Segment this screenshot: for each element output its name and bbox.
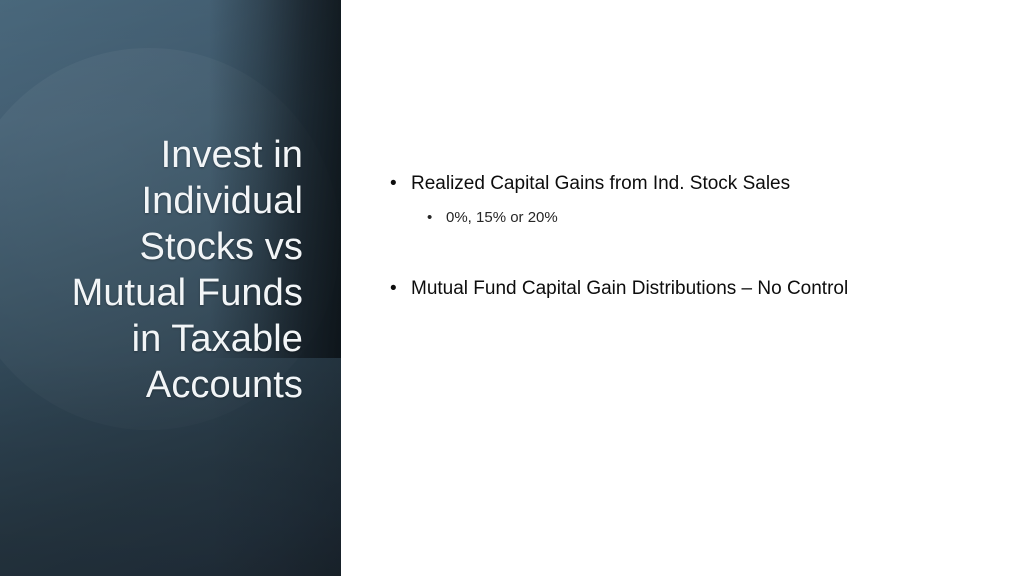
title-panel: Invest in Individual Stocks vs Mutual Fu… [0, 0, 341, 576]
bullet-text: Mutual Fund Capital Gain Distributions –… [411, 275, 848, 303]
sub-bullet-text: 0%, 15% or 20% [446, 206, 558, 230]
bullet-spacer [390, 236, 990, 275]
sub-bullet-marker-icon: • [427, 206, 446, 230]
bullet-text: Realized Capital Gains from Ind. Stock S… [411, 170, 790, 198]
bullet-item-1: • Realized Capital Gains from Ind. Stock… [390, 170, 990, 198]
bullet-item-2: • 0%, 15% or 20% [390, 206, 990, 230]
bullet-item-3: • Mutual Fund Capital Gain Distributions… [390, 275, 990, 303]
bullet-list: • Realized Capital Gains from Ind. Stock… [390, 170, 990, 311]
slide: Invest in Individual Stocks vs Mutual Fu… [0, 0, 1024, 576]
bullet-marker-icon: • [390, 170, 411, 198]
slide-title: Invest in Individual Stocks vs Mutual Fu… [35, 132, 303, 408]
bullet-marker-icon: • [390, 275, 411, 303]
slide-content-area: • Realized Capital Gains from Ind. Stock… [341, 0, 1024, 576]
